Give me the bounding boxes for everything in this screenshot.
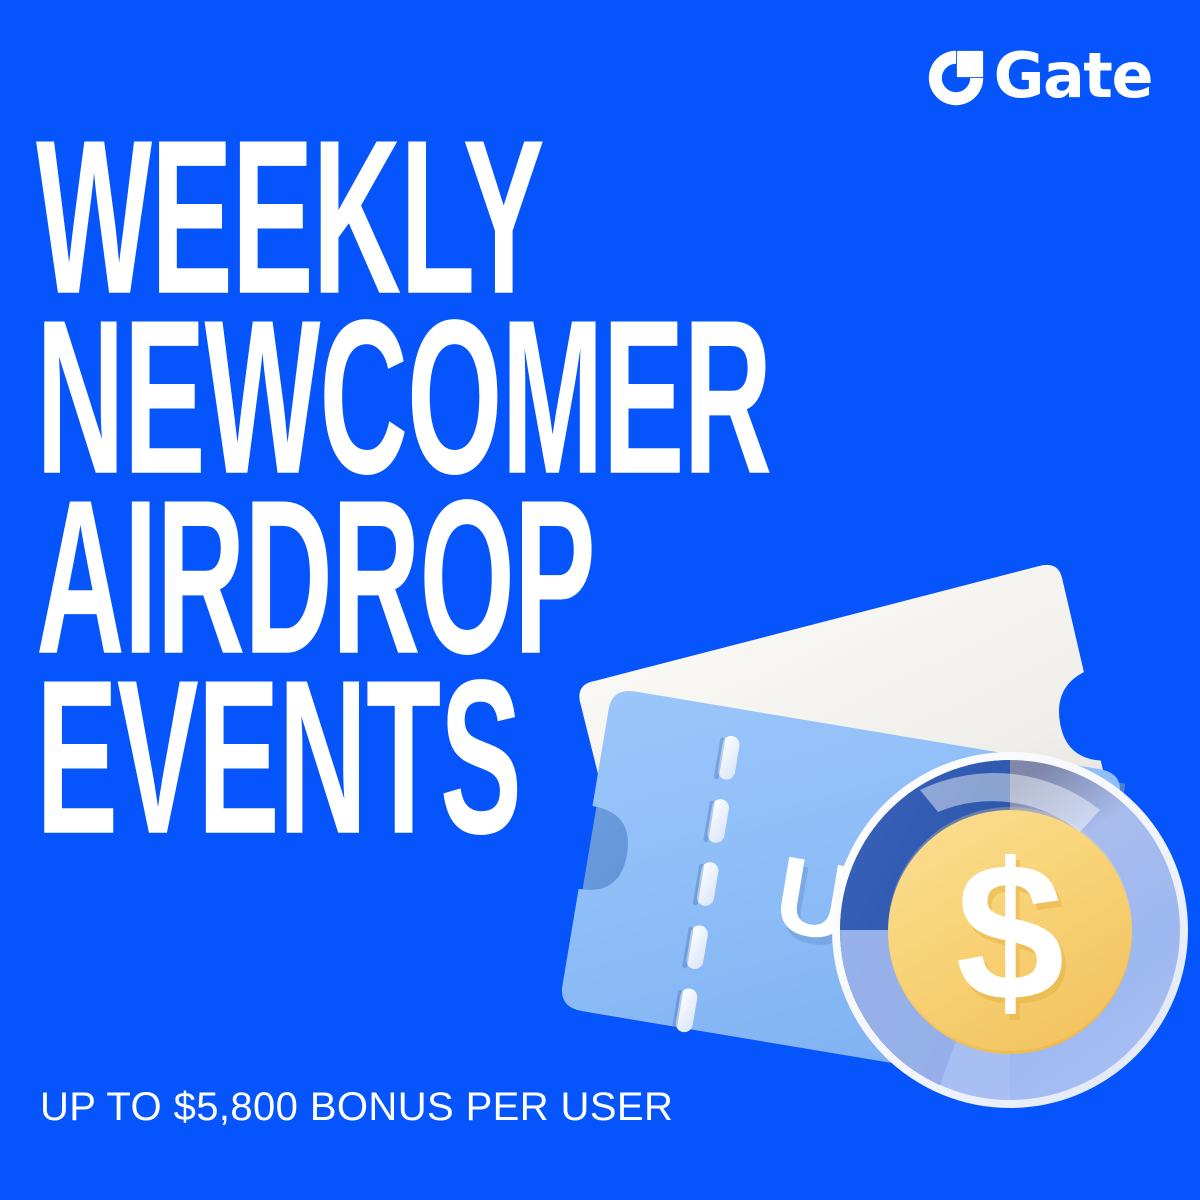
- dollar-sign-icon: $ $: [955, 823, 1068, 1048]
- promo-banner: Gate WEEKLY NEWCOMER AIRDROP EVENTS: [0, 0, 1200, 1200]
- brand-wordmark: Gate: [994, 45, 1152, 107]
- gate-circle-mark-icon: [928, 50, 984, 106]
- headline-line-4: EVENTS: [36, 659, 577, 857]
- svg-text:$: $: [955, 823, 1064, 1042]
- bonus-tagline: UP TO $5,800 BONUS PER USER: [40, 1085, 673, 1130]
- brand-logo: Gate: [928, 42, 1152, 114]
- dollar-coin: $ $: [832, 752, 1188, 1108]
